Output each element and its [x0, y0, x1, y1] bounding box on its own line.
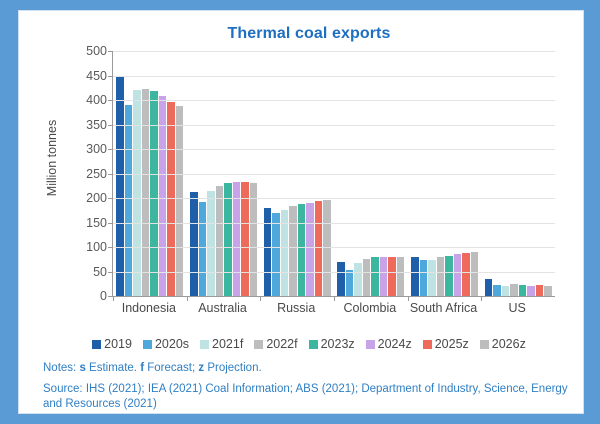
x-tick-label: South Africa [407, 301, 481, 315]
bar [125, 105, 133, 296]
legend-label: 2025z [435, 337, 469, 351]
x-tick-label: Indonesia [112, 301, 186, 315]
bar [264, 208, 272, 296]
bar [510, 284, 518, 296]
gridline [113, 272, 555, 273]
bar [437, 257, 445, 296]
source-line: Source: IHS (2021); IEA (2021) Coal Info… [43, 382, 577, 412]
legend-label: 2022f [266, 337, 297, 351]
y-tick-label: 300 [65, 142, 107, 156]
bar [527, 286, 535, 296]
y-tick-mark [108, 247, 113, 248]
legend-swatch-icon [480, 340, 489, 349]
notes-f-text: Forecast; [144, 362, 195, 374]
bar [241, 182, 249, 296]
chart-frame: Thermal coal exports Million tonnes 0501… [0, 0, 600, 424]
y-tick-mark [108, 223, 113, 224]
bar [272, 213, 280, 296]
bar [363, 259, 371, 296]
bar [354, 263, 362, 296]
bar [216, 186, 224, 296]
y-axis-ticks: 050100150200250300350400450500 [65, 51, 107, 296]
bar [224, 183, 232, 296]
legend-label: 2024z [378, 337, 412, 351]
y-tick-label: 50 [65, 265, 107, 279]
legend-swatch-icon [254, 340, 263, 349]
bar [199, 202, 207, 296]
bar [337, 262, 345, 296]
legend-label: 2020s [155, 337, 189, 351]
notes-line: Notes: s Estimate. f Forecast; z Project… [43, 361, 262, 376]
y-tick-mark [108, 272, 113, 273]
notes-z-text: Projection. [204, 362, 262, 374]
gridline [113, 247, 555, 248]
legend-item[interactable]: 2022f [254, 337, 297, 351]
bar [445, 256, 453, 296]
legend-item[interactable]: 2023z [309, 337, 355, 351]
y-tick-label: 100 [65, 240, 107, 254]
bar [428, 260, 436, 296]
x-tick-label: Russia [259, 301, 333, 315]
bar [544, 286, 552, 296]
x-tick-label: Colombia [333, 301, 407, 315]
y-tick-label: 0 [65, 289, 107, 303]
bar [298, 204, 306, 296]
gridline [113, 51, 555, 52]
bar [536, 285, 544, 296]
y-tick-mark [108, 76, 113, 77]
y-tick-label: 400 [65, 93, 107, 107]
bar [190, 192, 198, 296]
gridline [113, 100, 555, 101]
bar [454, 254, 462, 296]
bar [142, 89, 150, 296]
bar [133, 90, 141, 296]
y-tick-label: 150 [65, 216, 107, 230]
bar [306, 203, 314, 296]
legend-item[interactable]: 2019 [92, 337, 132, 351]
bar [233, 182, 241, 296]
y-tick-mark [108, 125, 113, 126]
gridline [113, 198, 555, 199]
x-tick-label: Australia [186, 301, 260, 315]
legend-item[interactable]: 2025z [423, 337, 469, 351]
notes-prefix: Notes: [43, 362, 76, 374]
bar [323, 200, 331, 296]
chart-panel: Thermal coal exports Million tonnes 0501… [18, 10, 584, 414]
bar [493, 285, 501, 296]
gridline [113, 125, 555, 126]
bar [519, 285, 527, 296]
y-tick-mark [108, 296, 113, 297]
gridline [113, 223, 555, 224]
bar [116, 76, 124, 297]
bar [485, 279, 493, 296]
legend-label: 2021f [212, 337, 243, 351]
bar [176, 106, 184, 296]
bar [346, 270, 354, 296]
bar [471, 252, 479, 296]
bar [462, 253, 470, 296]
y-tick-mark [108, 51, 113, 52]
legend-swatch-icon [309, 340, 318, 349]
y-tick-mark [108, 198, 113, 199]
x-tick-label: US [480, 301, 554, 315]
bar [388, 257, 396, 296]
y-tick-label: 200 [65, 191, 107, 205]
page-title: Thermal coal exports [119, 25, 499, 43]
bar [167, 102, 175, 296]
legend-swatch-icon [200, 340, 209, 349]
bar [397, 257, 405, 296]
bar [289, 206, 297, 296]
y-tick-label: 500 [65, 44, 107, 58]
bar [207, 191, 215, 296]
y-tick-label: 250 [65, 167, 107, 181]
x-axis-labels: IndonesiaAustraliaRussiaColombiaSouth Af… [112, 301, 554, 315]
bar [380, 257, 388, 296]
bar [150, 91, 158, 296]
y-tick-mark [108, 174, 113, 175]
legend-item[interactable]: 2026z [480, 337, 526, 351]
gridline [113, 76, 555, 77]
legend-item[interactable]: 2024z [366, 337, 412, 351]
bar [315, 201, 323, 296]
legend-swatch-icon [366, 340, 375, 349]
legend-item[interactable]: 2021f [200, 337, 243, 351]
plot-area-wrapper: Million tonnes 0501001502002503003504004… [19, 51, 585, 311]
notes-s-text: Estimate. [86, 362, 137, 374]
y-axis-label: Million tonnes [45, 78, 59, 238]
bar [502, 286, 510, 296]
legend-swatch-icon [92, 340, 101, 349]
y-tick-mark [108, 149, 113, 150]
legend-label: 2023z [321, 337, 355, 351]
bar [420, 260, 428, 296]
plot-area [112, 51, 555, 297]
bar [371, 257, 379, 296]
legend-swatch-icon [423, 340, 432, 349]
gridline [113, 149, 555, 150]
bar [250, 183, 258, 296]
legend-label: 2019 [104, 337, 132, 351]
gridline [113, 174, 555, 175]
legend-label: 2026z [492, 337, 526, 351]
chart-legend: 20192020s2021f2022f2023z2024z2025z2026z [49, 337, 569, 351]
bar [159, 96, 167, 296]
y-tick-mark [108, 100, 113, 101]
bar [411, 257, 419, 296]
legend-swatch-icon [143, 340, 152, 349]
legend-item[interactable]: 2020s [143, 337, 189, 351]
y-tick-label: 350 [65, 118, 107, 132]
y-tick-label: 450 [65, 69, 107, 83]
